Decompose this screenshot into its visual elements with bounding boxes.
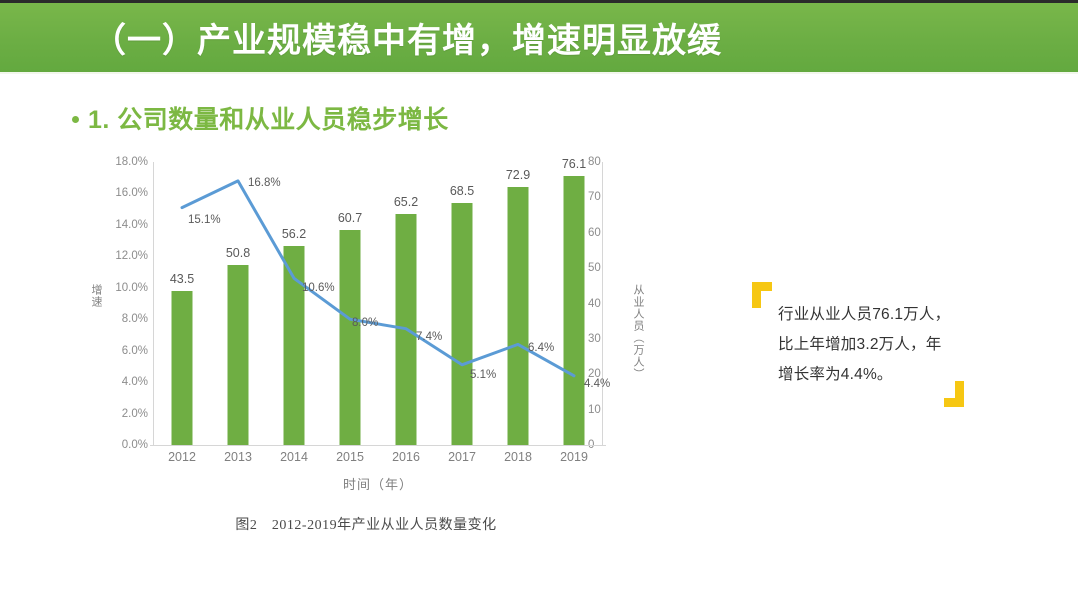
x-tick: 2017 (434, 450, 490, 464)
callout-line: 比上年增加3.2万人，年 (778, 330, 954, 360)
line-data-label: 10.6% (302, 282, 335, 294)
x-tick: 2012 (154, 450, 210, 464)
x-axis-title: 时间（年） (154, 474, 602, 493)
y-tick-left: 0.0% (96, 439, 148, 451)
chart-figure: 增速 从业人员（万人） 0.0%2.0%4.0%6.0%8.0%10.0%12.… (86, 152, 646, 552)
section-subtitle: 1. 公司数量和从业人员稳步增长 (72, 100, 449, 136)
callout-line: 增长率为4.4%。 (778, 360, 954, 390)
section-subtitle-label: 1. 公司数量和从业人员稳步增长 (88, 100, 449, 136)
line-data-label: 4.4% (584, 378, 610, 390)
y-axis-line-right (602, 162, 603, 446)
line-data-label: 5.1% (470, 369, 496, 381)
line-data-label: 8.0% (352, 317, 378, 329)
line-data-label: 15.1% (188, 214, 221, 226)
y-tick-left: 2.0% (96, 408, 148, 420)
callout-text: 行业从业人员76.1万人，比上年增加3.2万人，年增长率为4.4%。 (778, 300, 954, 391)
x-axis-ticks: 20122013201420152016201720182019 (154, 450, 602, 464)
y-tick-left: 6.0% (96, 345, 148, 357)
bullet-dot-icon (72, 116, 79, 123)
plot-area: 43.550.856.260.765.268.572.976.1 15.1%16… (154, 162, 602, 445)
figure-caption: 图2 2012-2019年产业从业人员数量变化 (86, 514, 646, 534)
line-path (182, 181, 574, 376)
x-tick: 2014 (266, 450, 322, 464)
bracket-top-left-icon (752, 282, 772, 308)
slide-header-band: （一）产业规模稳中有增，增速明显放缓 (0, 3, 1078, 72)
y-axis-title-right: 从业人员（万人） (630, 284, 646, 380)
y-tick-left: 16.0% (96, 187, 148, 199)
x-tick: 2015 (322, 450, 378, 464)
y-tick-left: 12.0% (96, 250, 148, 262)
x-tick: 2019 (546, 450, 602, 464)
line-series (154, 162, 602, 445)
x-axis-line (150, 445, 606, 446)
line-data-label: 6.4% (528, 342, 554, 354)
slide: （一）产业规模稳中有增，增速明显放缓 1. 公司数量和从业人员稳步增长 增速 从… (0, 0, 1078, 606)
page-title: （一）产业规模稳中有增，增速明显放缓 (92, 13, 722, 62)
y-tick-left: 4.0% (96, 376, 148, 388)
line-data-label: 7.4% (416, 331, 442, 343)
x-tick: 2018 (490, 450, 546, 464)
y-tick-left: 18.0% (96, 156, 148, 168)
y-tick-left: 14.0% (96, 219, 148, 231)
line-data-label: 16.8% (248, 177, 281, 189)
x-tick: 2016 (378, 450, 434, 464)
y-tick-left: 8.0% (96, 313, 148, 325)
callout-box: 行业从业人员76.1万人，比上年增加3.2万人，年增长率为4.4%。 (752, 282, 964, 407)
x-tick: 2013 (210, 450, 266, 464)
y-tick-left: 10.0% (96, 282, 148, 294)
callout-line: 行业从业人员76.1万人， (778, 300, 954, 330)
